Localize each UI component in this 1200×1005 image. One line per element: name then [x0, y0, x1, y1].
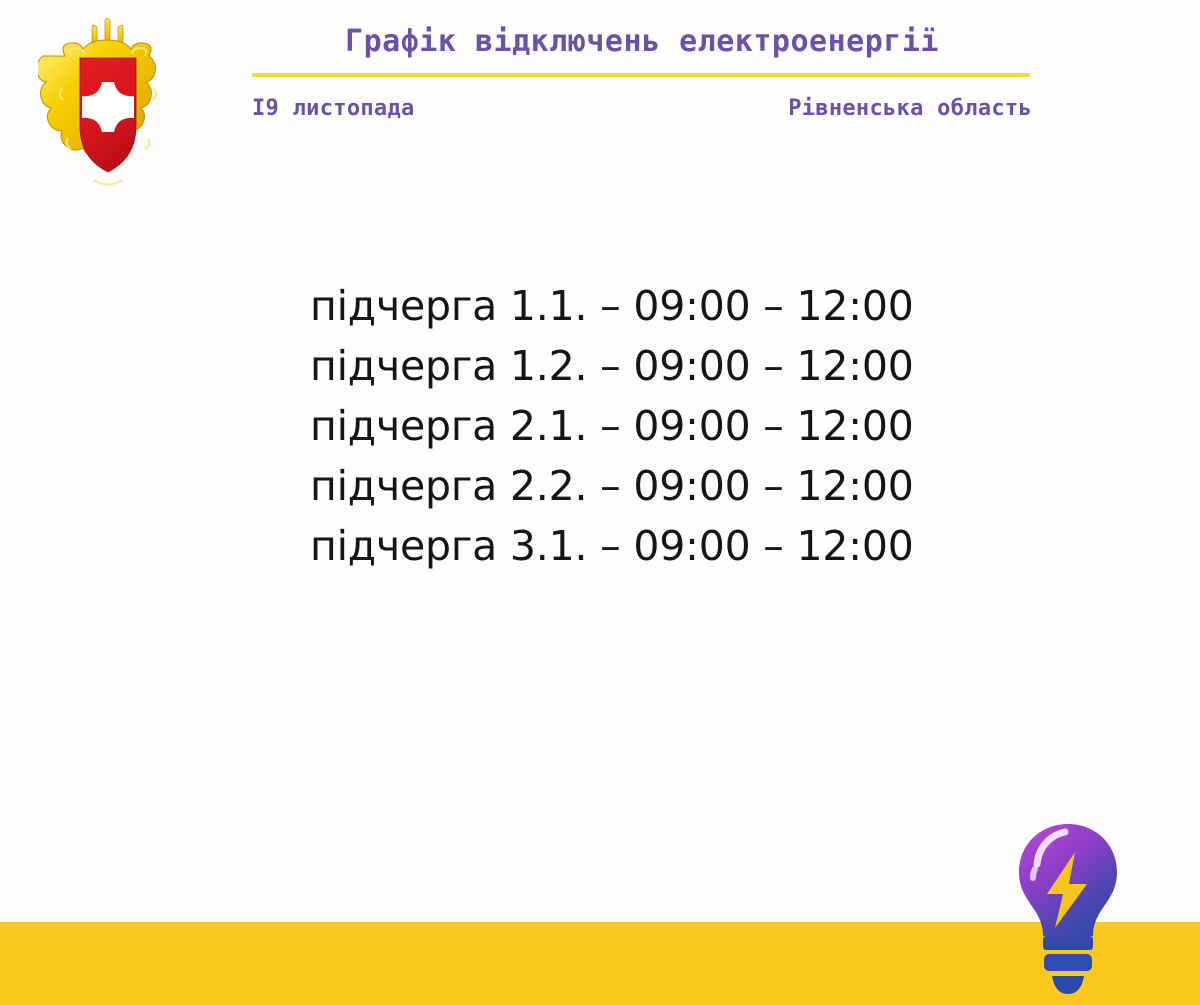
page-title: Графік відключень електроенергії [252, 24, 1032, 59]
header-block: Графік відключень електроенергії I9 лист… [252, 24, 1032, 121]
region-name: Рівненська область [788, 96, 1032, 121]
subheader-row: I9 листопада Рівненська область [252, 96, 1032, 121]
schedule-list: підчерга 1.1. – 09:00 – 12:00 підчерга 1… [310, 276, 1010, 576]
schedule-row: підчерга 1.2. – 09:00 – 12:00 [310, 336, 1010, 396]
title-divider [252, 73, 1030, 77]
outage-schedule-poster: Графік відключень електроенергії I9 лист… [0, 0, 1200, 1005]
schedule-row: підчерга 2.1. – 09:00 – 12:00 [310, 396, 1010, 456]
schedule-date: I9 листопада [252, 96, 415, 121]
schedule-row: підчерга 3.1. – 09:00 – 12:00 [310, 516, 1010, 576]
lightbulb-with-bolt-icon [1003, 818, 1133, 1000]
schedule-row: підчерга 2.2. – 09:00 – 12:00 [310, 456, 1010, 516]
bulb-base-tip [1052, 976, 1084, 994]
schedule-row: підчерга 1.1. – 09:00 – 12:00 [310, 276, 1010, 336]
rivne-oblast-coat-of-arms-icon [38, 12, 178, 202]
bulb-highlight-dot [1033, 869, 1035, 878]
bulb-neck [1043, 936, 1093, 950]
bulb-base-band-1 [1044, 954, 1092, 971]
